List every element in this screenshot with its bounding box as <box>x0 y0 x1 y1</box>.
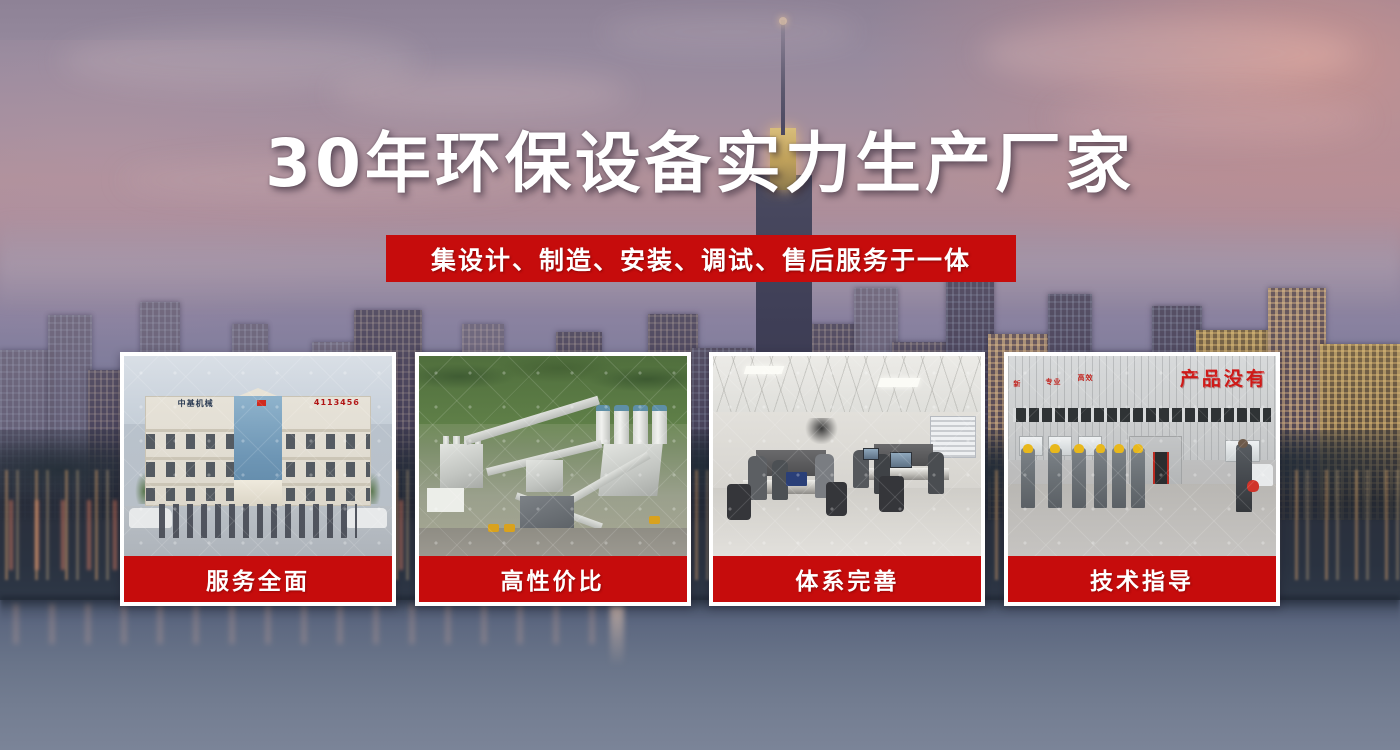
card-photo <box>713 356 981 556</box>
card-photo <box>419 356 687 556</box>
card-caption: 体系完善 <box>713 556 981 602</box>
water-reflection-streak <box>610 606 624 666</box>
feature-card[interactable]: 高性价比 <box>415 352 691 606</box>
card-caption: 高性价比 <box>419 556 687 602</box>
card-photo: 产品没有 新 专业 高效 <box>1008 356 1276 556</box>
page-title: 30年环保设备实力生产厂家 <box>0 131 1400 197</box>
cloud-shape <box>980 18 1360 88</box>
card-photo: 中基机械 4113456 <box>124 356 392 556</box>
wall-decal <box>804 418 839 444</box>
building-phone-text: 4113456 <box>314 398 360 407</box>
factory-slogan-text: 专业 <box>1045 378 1061 387</box>
supervisor-figure <box>1236 444 1252 512</box>
feature-card[interactable]: 产品没有 新 专业 高效 <box>1004 352 1280 606</box>
building-sign-text: 中基机械 <box>178 398 214 409</box>
tower-beacon-light <box>779 17 787 25</box>
card-caption: 服务全面 <box>124 556 392 602</box>
factory-slogan-text: 新 <box>1013 380 1021 389</box>
feature-card[interactable]: 中基机械 4113456 服务全面 <box>120 352 396 606</box>
staff-lineup <box>159 504 357 538</box>
red-helmet <box>1247 480 1259 492</box>
tower-antenna-spire <box>781 20 785 135</box>
factory-workers-photo: 产品没有 新 专业 高效 <box>1008 356 1276 556</box>
flag-icon <box>257 400 266 406</box>
feature-card-list: 中基机械 4113456 服务全面 <box>120 352 1280 606</box>
subtitle-text: 集设计、制造、安装、调试、售后服务于一体 <box>431 241 971 277</box>
headquarters-photo: 中基机械 4113456 <box>124 356 392 556</box>
factory-banner-text: 产品没有 <box>1180 364 1268 391</box>
subtitle-banner: 集设计、制造、安装、调试、售后服务于一体 <box>386 235 1016 282</box>
feature-card[interactable]: 体系完善 <box>709 352 985 606</box>
cloud-shape <box>600 12 860 52</box>
factory-slogan-text: 高效 <box>1078 374 1094 383</box>
cloud-shape <box>330 70 630 116</box>
office-interior-photo <box>713 356 981 556</box>
card-caption: 技术指导 <box>1008 556 1276 602</box>
water-light-reflections <box>0 604 620 644</box>
promo-banner: 30年环保设备实力生产厂家 集设计、制造、安装、调试、售后服务于一体 <box>0 0 1400 750</box>
industrial-plant-photo <box>419 356 687 556</box>
